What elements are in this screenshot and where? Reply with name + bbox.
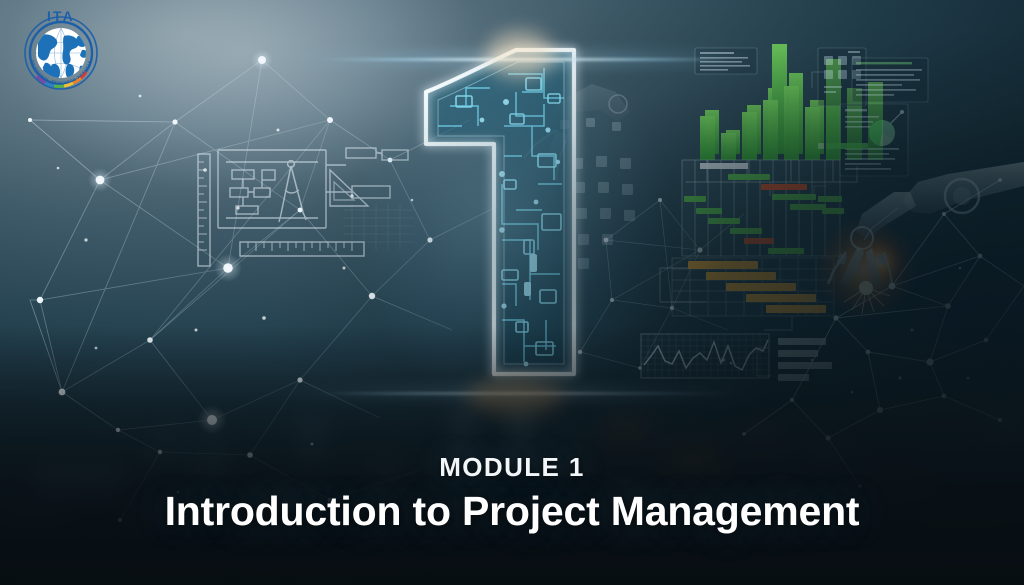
course-title: Introduction to Project Management	[0, 489, 1024, 533]
course-banner: ITA INTERNATIONAL TEACHERS ASSOCIATION M…	[0, 0, 1024, 585]
ita-logo[interactable]: ITA INTERNATIONAL TEACHERS ASSOCIATION	[12, 6, 110, 98]
module-label: MODULE 1	[0, 454, 1024, 481]
logo-acronym: ITA	[47, 9, 75, 24]
title-block: MODULE 1 Introduction to Project Managem…	[0, 454, 1024, 533]
